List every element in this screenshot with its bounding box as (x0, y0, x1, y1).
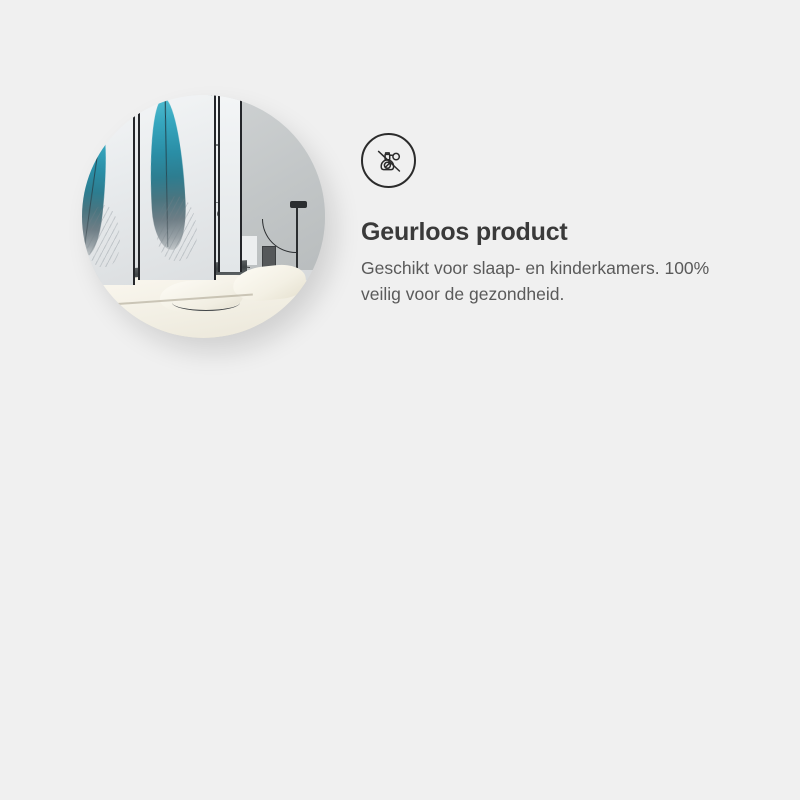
feature-block-solid-construction: Solide constructie Vervaardigd uit de ho… (0, 400, 800, 800)
no-fragrance-icon (361, 133, 416, 188)
feather-wisp-center (157, 196, 197, 260)
bedroom-scene (82, 95, 325, 338)
wall-lamp-head (290, 201, 307, 208)
bedroom-feather-wall-art-photo (82, 95, 325, 338)
product-feature-banner: Geurloos product Geschikt voor slaap- en… (0, 0, 800, 800)
feature-block-odourless: Geurloos product Geschikt voor slaap- en… (0, 0, 800, 400)
feature-description: Geschikt voor slaap- en kinderkamers. 10… (361, 256, 751, 308)
feature-title: Geurloos product (361, 218, 751, 247)
feather-wisp-left (87, 205, 120, 266)
photo-content (82, 95, 325, 338)
art-panel-left (82, 105, 135, 285)
art-panel-right (218, 95, 242, 272)
art-panel-center (138, 95, 216, 280)
feature-text-odourless: Geurloos product Geschikt voor slaap- en… (361, 133, 751, 308)
picture-frame (262, 246, 277, 268)
